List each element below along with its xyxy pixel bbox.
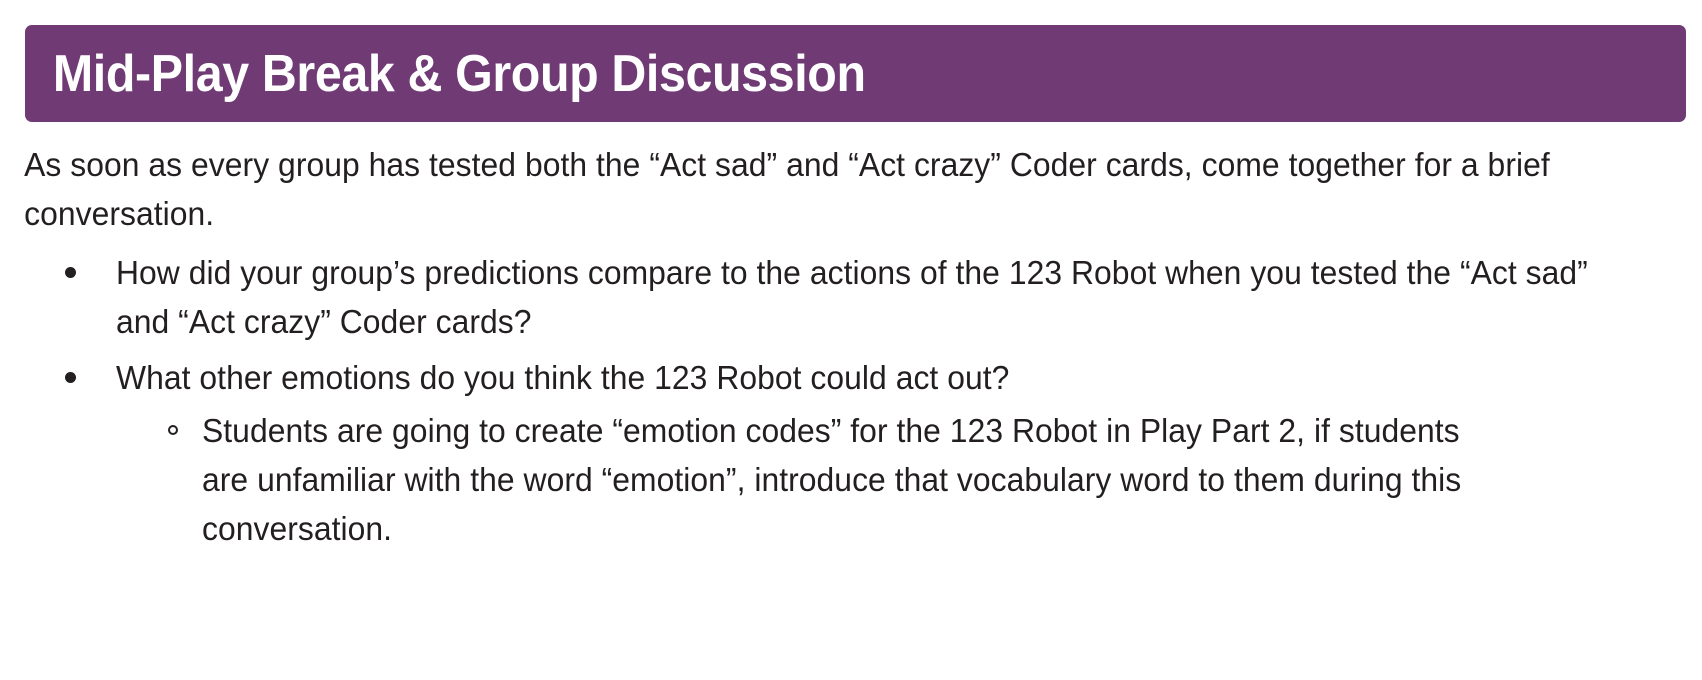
page-title: Mid-Play Break & Group Discussion bbox=[25, 48, 866, 100]
list-item-label: How did your group’s predictions compare… bbox=[116, 248, 1618, 346]
teacher-note-sublist: Students are going to create “emotion co… bbox=[116, 406, 1672, 553]
list-item-label: What other emotions do you think the 123… bbox=[116, 353, 1618, 402]
lesson-section-page: Mid-Play Break & Group Discussion As soo… bbox=[0, 0, 1702, 680]
discussion-question-list: How did your group’s predictions compare… bbox=[0, 248, 1702, 553]
circle-bullet-icon bbox=[168, 425, 178, 435]
section-body: As soon as every group has tested both t… bbox=[0, 140, 1702, 560]
intro-paragraph: As soon as every group has tested both t… bbox=[0, 140, 1642, 238]
section-header-banner: Mid-Play Break & Group Discussion bbox=[25, 25, 1686, 122]
list-item: Students are going to create “emotion co… bbox=[116, 406, 1672, 553]
list-item-label: Students are going to create “emotion co… bbox=[202, 406, 1514, 553]
disc-bullet-icon bbox=[65, 267, 76, 278]
disc-bullet-icon bbox=[65, 372, 76, 383]
list-item: What other emotions do you think the 123… bbox=[0, 353, 1702, 553]
list-item: How did your group’s predictions compare… bbox=[0, 248, 1702, 346]
